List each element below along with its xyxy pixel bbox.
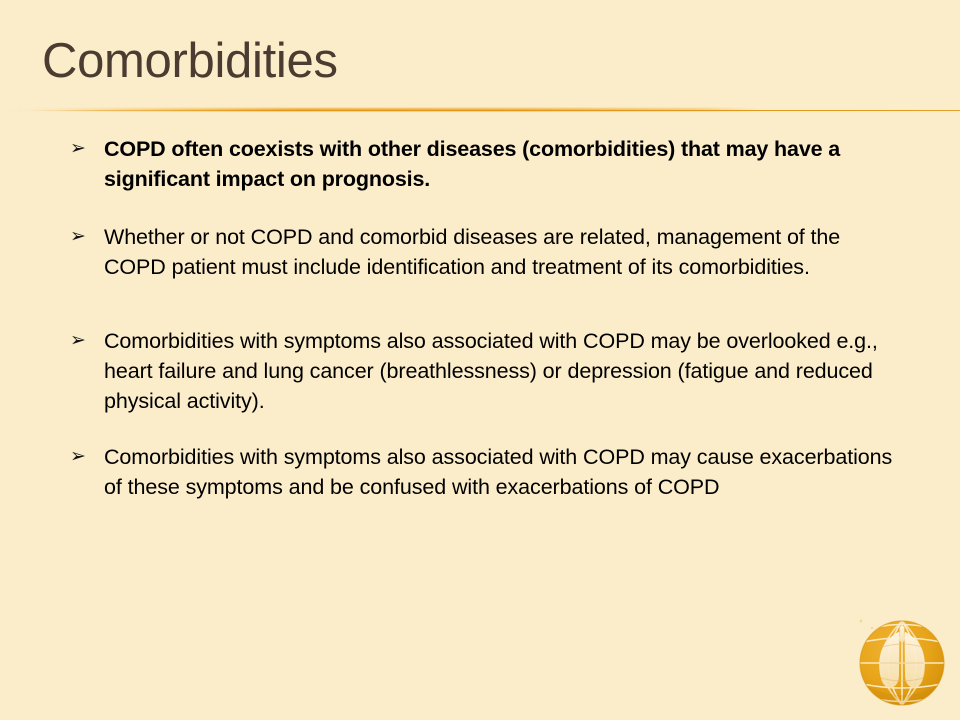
slide-header: Comorbidities [0,0,960,118]
gold-globe-lungs-icon [852,612,952,712]
arrowhead-bullet-icon: ➢ [70,442,96,472]
slide: Comorbidities ➢ COPD often coexists with… [0,0,960,720]
list-item-text: Comorbidities with symptoms also associa… [104,326,898,416]
arrowhead-bullet-icon: ➢ [70,222,96,252]
arrowhead-bullet-icon: ➢ [70,134,96,164]
list-item: ➢ Comorbidities with symptoms also assoc… [68,326,898,416]
list-item: ➢ COPD often coexists with other disease… [68,134,898,194]
arrowhead-bullet-icon: ➢ [70,326,96,356]
bullet-list: ➢ COPD often coexists with other disease… [68,134,898,502]
page-title: Comorbidities [42,37,338,86]
list-item: ➢ Whether or not COPD and comorbid disea… [68,222,898,282]
list-item-text: Whether or not COPD and comorbid disease… [104,222,898,282]
list-item-text: Comorbidities with symptoms also associa… [104,442,898,502]
list-item: ➢ Comorbidities with symptoms also assoc… [68,442,898,502]
list-item-text: COPD often coexists with other diseases … [104,134,898,194]
